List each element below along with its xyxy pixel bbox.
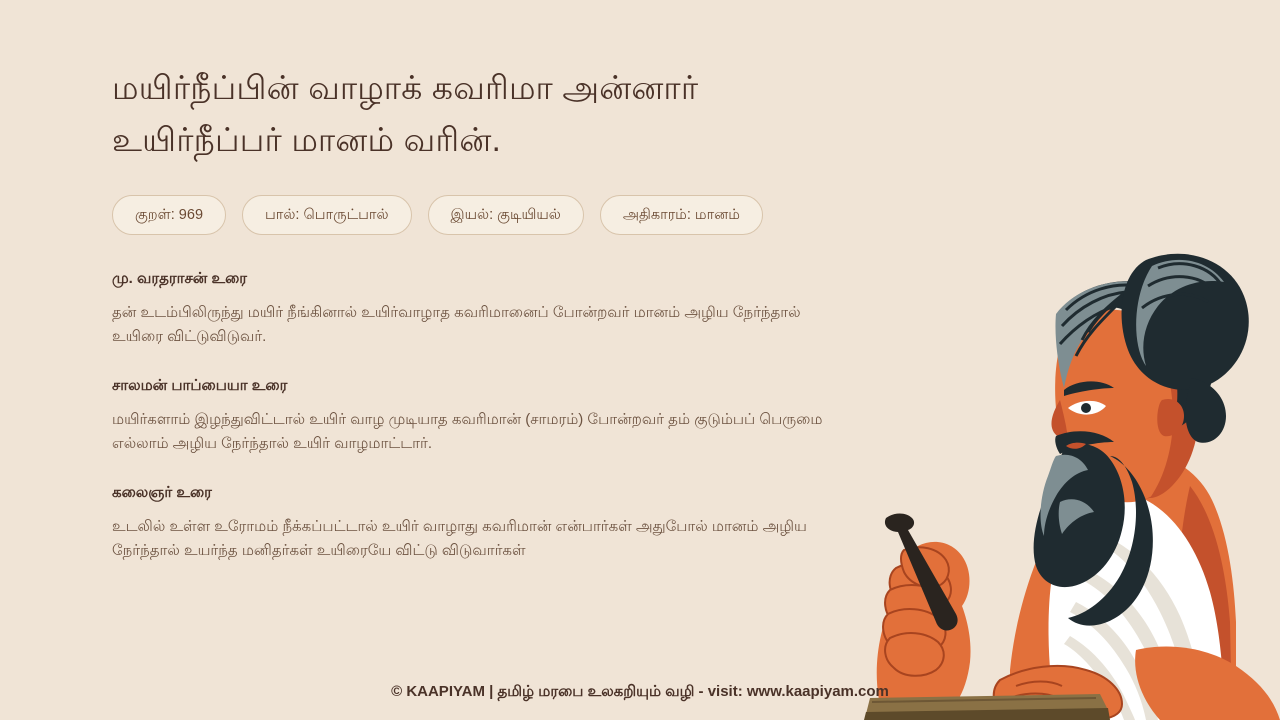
kural-line-1: மயிர்நீப்பின் வாழாக் கவரிமா அன்னார் <box>112 69 698 106</box>
commentary-body: தன் உடம்பிலிருந்து மயிர் நீங்கினால் உயிர… <box>112 301 847 348</box>
chip-paal[interactable]: பால்: பொருட்பால் <box>242 195 412 235</box>
commentary-list: மு. வரதராசன் உரை தன் உடம்பிலிருந்து மயிர… <box>112 268 872 562</box>
meta-chip-row: குறள்: 969 பால்: பொருட்பால் இயல்: குடியி… <box>112 195 872 235</box>
thiruvalluvar-illustration <box>860 250 1280 720</box>
commentary-kalaignar: கலைஞர் உரை உடலில் உள்ள உரோமம் நீக்கப்பட்… <box>112 482 872 562</box>
footer-credit: © KAAPIYAM | தமிழ் மரபை உலகறியும் வழி - … <box>0 681 1280 703</box>
commentary-title: மு. வரதராசன் உரை <box>112 268 872 290</box>
kural-card: மயிர்நீப்பின் வாழாக் கவரிமா அன்னார் உயிர… <box>0 0 1280 720</box>
kural-line-2: உயிர்நீப்பர் மானம் வரின். <box>112 121 501 158</box>
commentary-title: கலைஞர் உரை <box>112 482 872 504</box>
page-title: மயிர்நீப்பின் வாழாக் கவரிமா அன்னார் உயிர… <box>112 62 872 166</box>
commentary-body: உடலில் உள்ள உரோமம் நீக்கப்பட்டால் உயிர் … <box>112 515 847 562</box>
sage-figure-svg <box>860 250 1280 720</box>
chip-adhikaram[interactable]: அதிகாரம்: மானம் <box>600 195 763 235</box>
commentary-solomon-pappaiya: சாலமன் பாப்பையா உரை மயிர்களாம் இழந்துவிட… <box>112 375 872 455</box>
commentary-title: சாலமன் பாப்பையா உரை <box>112 375 872 397</box>
commentary-body: மயிர்களாம் இழந்துவிட்டால் உயிர் வாழ முடி… <box>112 408 847 455</box>
chip-iyal[interactable]: இயல்: குடியியல் <box>428 195 584 235</box>
chip-kural-number[interactable]: குறள்: 969 <box>112 195 226 235</box>
commentary-varadarasan: மு. வரதராசன் உரை தன் உடம்பிலிருந்து மயிர… <box>112 268 872 348</box>
content-column: மயிர்நீப்பின் வாழாக் கவரிமா அன்னார் உயிர… <box>112 62 872 562</box>
